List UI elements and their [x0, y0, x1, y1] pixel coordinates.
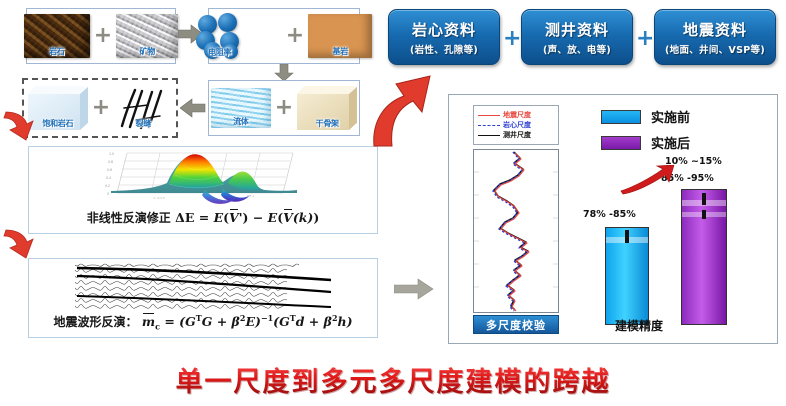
bar-after[interactable]: [681, 189, 727, 325]
plus-operator: +: [94, 25, 112, 47]
legend-swatch-before: [601, 110, 641, 124]
waveform-body-2: G + β: [202, 314, 240, 329]
fracture-chip: 裂缝: [114, 86, 172, 130]
spheres-chip: 电阻率: [196, 13, 282, 59]
matrix-label: 基岩: [308, 46, 372, 57]
dryframe-chip: 干骨架: [297, 86, 357, 130]
bar-before-value-label: 78% -85%: [583, 209, 636, 220]
waveform-inv: −1: [261, 313, 273, 323]
waveform-equals: =: [164, 314, 174, 329]
legend-item-seismic-scale: 地震尺度: [478, 110, 554, 120]
saturated-rock-chip: 饱和岩石: [28, 86, 88, 130]
legend-swatch-after: [601, 136, 641, 150]
seismic-wiggle-section: [75, 262, 333, 310]
waveform-formula: 地震波形反演： mc = (GTG + β2E)−1(GTd + β2h): [29, 313, 377, 332]
waveform-body-6: h): [338, 314, 353, 329]
workflow-step-rock-mineral: 岩石 + 矿物: [26, 8, 176, 64]
arrow-red-gain: [619, 165, 675, 195]
rock-chip: 岩石: [24, 14, 90, 58]
legend-label-after: 实施后: [651, 133, 690, 152]
matrix-chip: 基岩: [308, 14, 372, 58]
fluid-label: 流体: [211, 116, 271, 127]
saturated-rock-label: 饱和岩石: [28, 118, 88, 129]
plus-sources-1: +: [503, 26, 521, 51]
resistivity-label: 电阻率: [196, 47, 244, 58]
waveform-inversion-panel: 地震波形反演： mc = (GTG + β2E)−1(GTd + β2h): [28, 258, 378, 338]
legend-label-before: 实施前: [651, 107, 690, 126]
well-chart-legend: 地震尺度 岩心尺度 测井尺度: [473, 105, 559, 145]
well-chart-title: 多尺度校验: [486, 317, 546, 333]
nonlinear-equals: =: [199, 210, 209, 225]
workflow-step-fluid-dryframe: 流体 + 干骨架: [208, 80, 360, 136]
nonlinear-fn-1: E: [214, 210, 224, 225]
fracture-label: 裂缝: [114, 118, 172, 129]
nonlinear-surface-plot: 1.00.8 0.60.4 0.20 -1 -0.5: [97, 149, 313, 209]
svg-text:0.2: 0.2: [105, 184, 110, 188]
well-chart-title-strip: 多尺度校验: [473, 315, 559, 334]
rock-label: 岩石: [24, 46, 90, 57]
svg-text:1.0: 1.0: [109, 152, 114, 156]
bar-chart-legend: 实施前 实施后: [601, 107, 690, 152]
waveform-body-5: d + β: [296, 314, 332, 329]
fluid-chip: 流体: [211, 88, 271, 128]
arrow-left-1: [180, 98, 206, 118]
nonlinear-fn-2: E: [268, 210, 278, 225]
workflow-step-saturated-fracture: 饱和岩石 + 裂缝: [22, 78, 178, 138]
legend-item-after: 实施后: [601, 133, 690, 152]
waveform-sub-c: c: [155, 322, 160, 332]
legend-label-log: 测井尺度: [503, 130, 531, 140]
svg-text:0.4: 0.4: [106, 176, 111, 180]
waveform-caption-label: 地震波形反演：: [53, 315, 137, 329]
legend-line-seismic: [478, 115, 500, 116]
svg-text:-1 -0.5 0: -1 -0.5 0: [153, 196, 165, 200]
waveform-body-3: E): [245, 314, 260, 329]
core-card-subtitle: (岩性、孔隙等): [410, 42, 478, 56]
svg-text:0.6: 0.6: [107, 168, 112, 172]
nonlinear-formula: 非线性反演修正 ΔE = E(V') − E(V(k)): [29, 209, 377, 226]
bar-before[interactable]: [605, 227, 649, 325]
core-card-title: 岩心资料: [412, 19, 476, 40]
modeling-accuracy-bar-chart[interactable]: 78% -85% 85% -95% 10% ~15%: [589, 167, 759, 325]
legend-item-core-scale: 岩心尺度: [478, 120, 554, 130]
legend-line-core: [478, 125, 500, 126]
multiscale-well-log-chart[interactable]: [473, 149, 559, 313]
mineral-label: 矿物: [116, 46, 178, 57]
nonlinear-arg-1: V: [229, 210, 239, 225]
plus-operator-2: +: [286, 25, 304, 47]
banner-text: 单一尺度到多元多尺度建模的跨越: [176, 367, 611, 398]
legend-item-log-scale: 测井尺度: [478, 130, 554, 140]
data-source-card-log[interactable]: 测井资料 (声、放、电等): [521, 9, 633, 65]
well-log-curves: [474, 150, 558, 312]
waveform-body-4: (G: [273, 314, 290, 329]
seismic-card-title: 地震资料: [683, 19, 747, 40]
nonlinear-delta-e: ΔE: [175, 210, 194, 225]
arrow-red-up-right: [366, 72, 436, 148]
data-source-card-seismic[interactable]: 地震资料 (地面、井间、VSP等): [654, 9, 776, 65]
plus-sources-2: +: [636, 26, 654, 51]
bottom-banner: 单一尺度到多元多尺度建模的跨越: [0, 360, 786, 399]
plus-operator-3: +: [275, 97, 293, 119]
nonlinear-arg-2: V: [283, 210, 293, 225]
waveform-body-1: (G: [179, 314, 196, 329]
legend-label-core: 岩心尺度: [503, 120, 531, 130]
nonlinear-minus: −: [253, 210, 263, 225]
nonlinear-index: (k): [293, 210, 314, 225]
nonlinear-inversion-panel: 1.00.8 0.60.4 0.20 -1 -0.5: [28, 146, 378, 234]
nonlinear-caption-label: 非线性反演修正: [87, 211, 171, 225]
legend-item-before: 实施前: [601, 107, 690, 126]
svg-text:0.8: 0.8: [108, 160, 113, 164]
bar-chart-axis-label: 建模精度: [615, 317, 663, 334]
arrow-right-to-results: [394, 278, 434, 300]
log-card-subtitle: (声、放、电等): [543, 42, 611, 56]
legend-label-seismic: 地震尺度: [503, 110, 531, 120]
svg-text:0: 0: [107, 192, 109, 196]
seismic-card-subtitle: (地面、井间、VSP等): [665, 42, 765, 56]
log-card-title: 测井资料: [545, 19, 609, 40]
results-panel: 地震尺度 岩心尺度 测井尺度: [448, 94, 778, 344]
waveform-mhat: m: [142, 314, 155, 329]
mineral-chip: 矿物: [116, 14, 178, 58]
workflow-step-resistivity-matrix: 电阻率 + 基岩: [208, 8, 360, 64]
data-source-card-core[interactable]: 岩心资料 (岩性、孔隙等): [388, 9, 500, 65]
dryframe-label: 干骨架: [297, 118, 357, 129]
legend-line-log: [478, 135, 500, 136]
plus-operator-4: +: [92, 97, 110, 119]
svg-text:0.5 1: 0.5 1: [247, 194, 254, 198]
